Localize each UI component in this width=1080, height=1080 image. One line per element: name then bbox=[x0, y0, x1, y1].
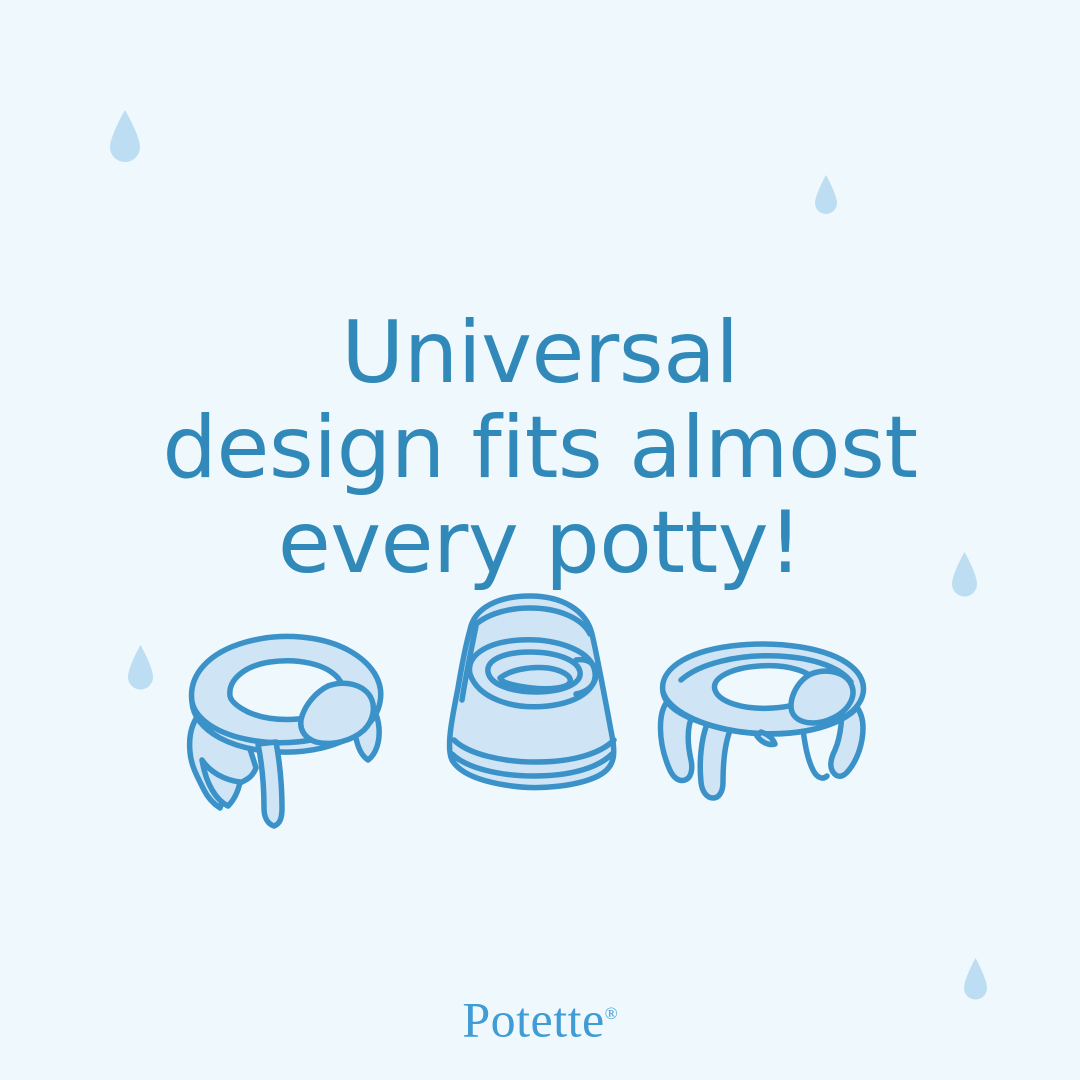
potty-standing-illustration bbox=[645, 638, 885, 818]
headline-line-1: Universal bbox=[0, 306, 1080, 401]
headline-line-3: every potty! bbox=[0, 496, 1080, 591]
potty-seat-reducer-illustration bbox=[176, 608, 406, 833]
headline: Universal design fits almost every potty… bbox=[0, 306, 1080, 591]
droplet-top-right-icon bbox=[815, 175, 837, 215]
potty-chair-illustration bbox=[430, 588, 630, 803]
registered-trademark-icon: ® bbox=[605, 1004, 618, 1023]
potty-illustration-row bbox=[0, 588, 1080, 868]
poster-canvas: Universal design fits almost every potty… bbox=[0, 0, 1080, 1080]
brand-logo: Potette® bbox=[0, 986, 1080, 1048]
brand-logo-text: Potette bbox=[462, 992, 604, 1048]
headline-line-2: design fits almost bbox=[0, 401, 1080, 496]
droplet-top-left-icon bbox=[110, 110, 140, 162]
